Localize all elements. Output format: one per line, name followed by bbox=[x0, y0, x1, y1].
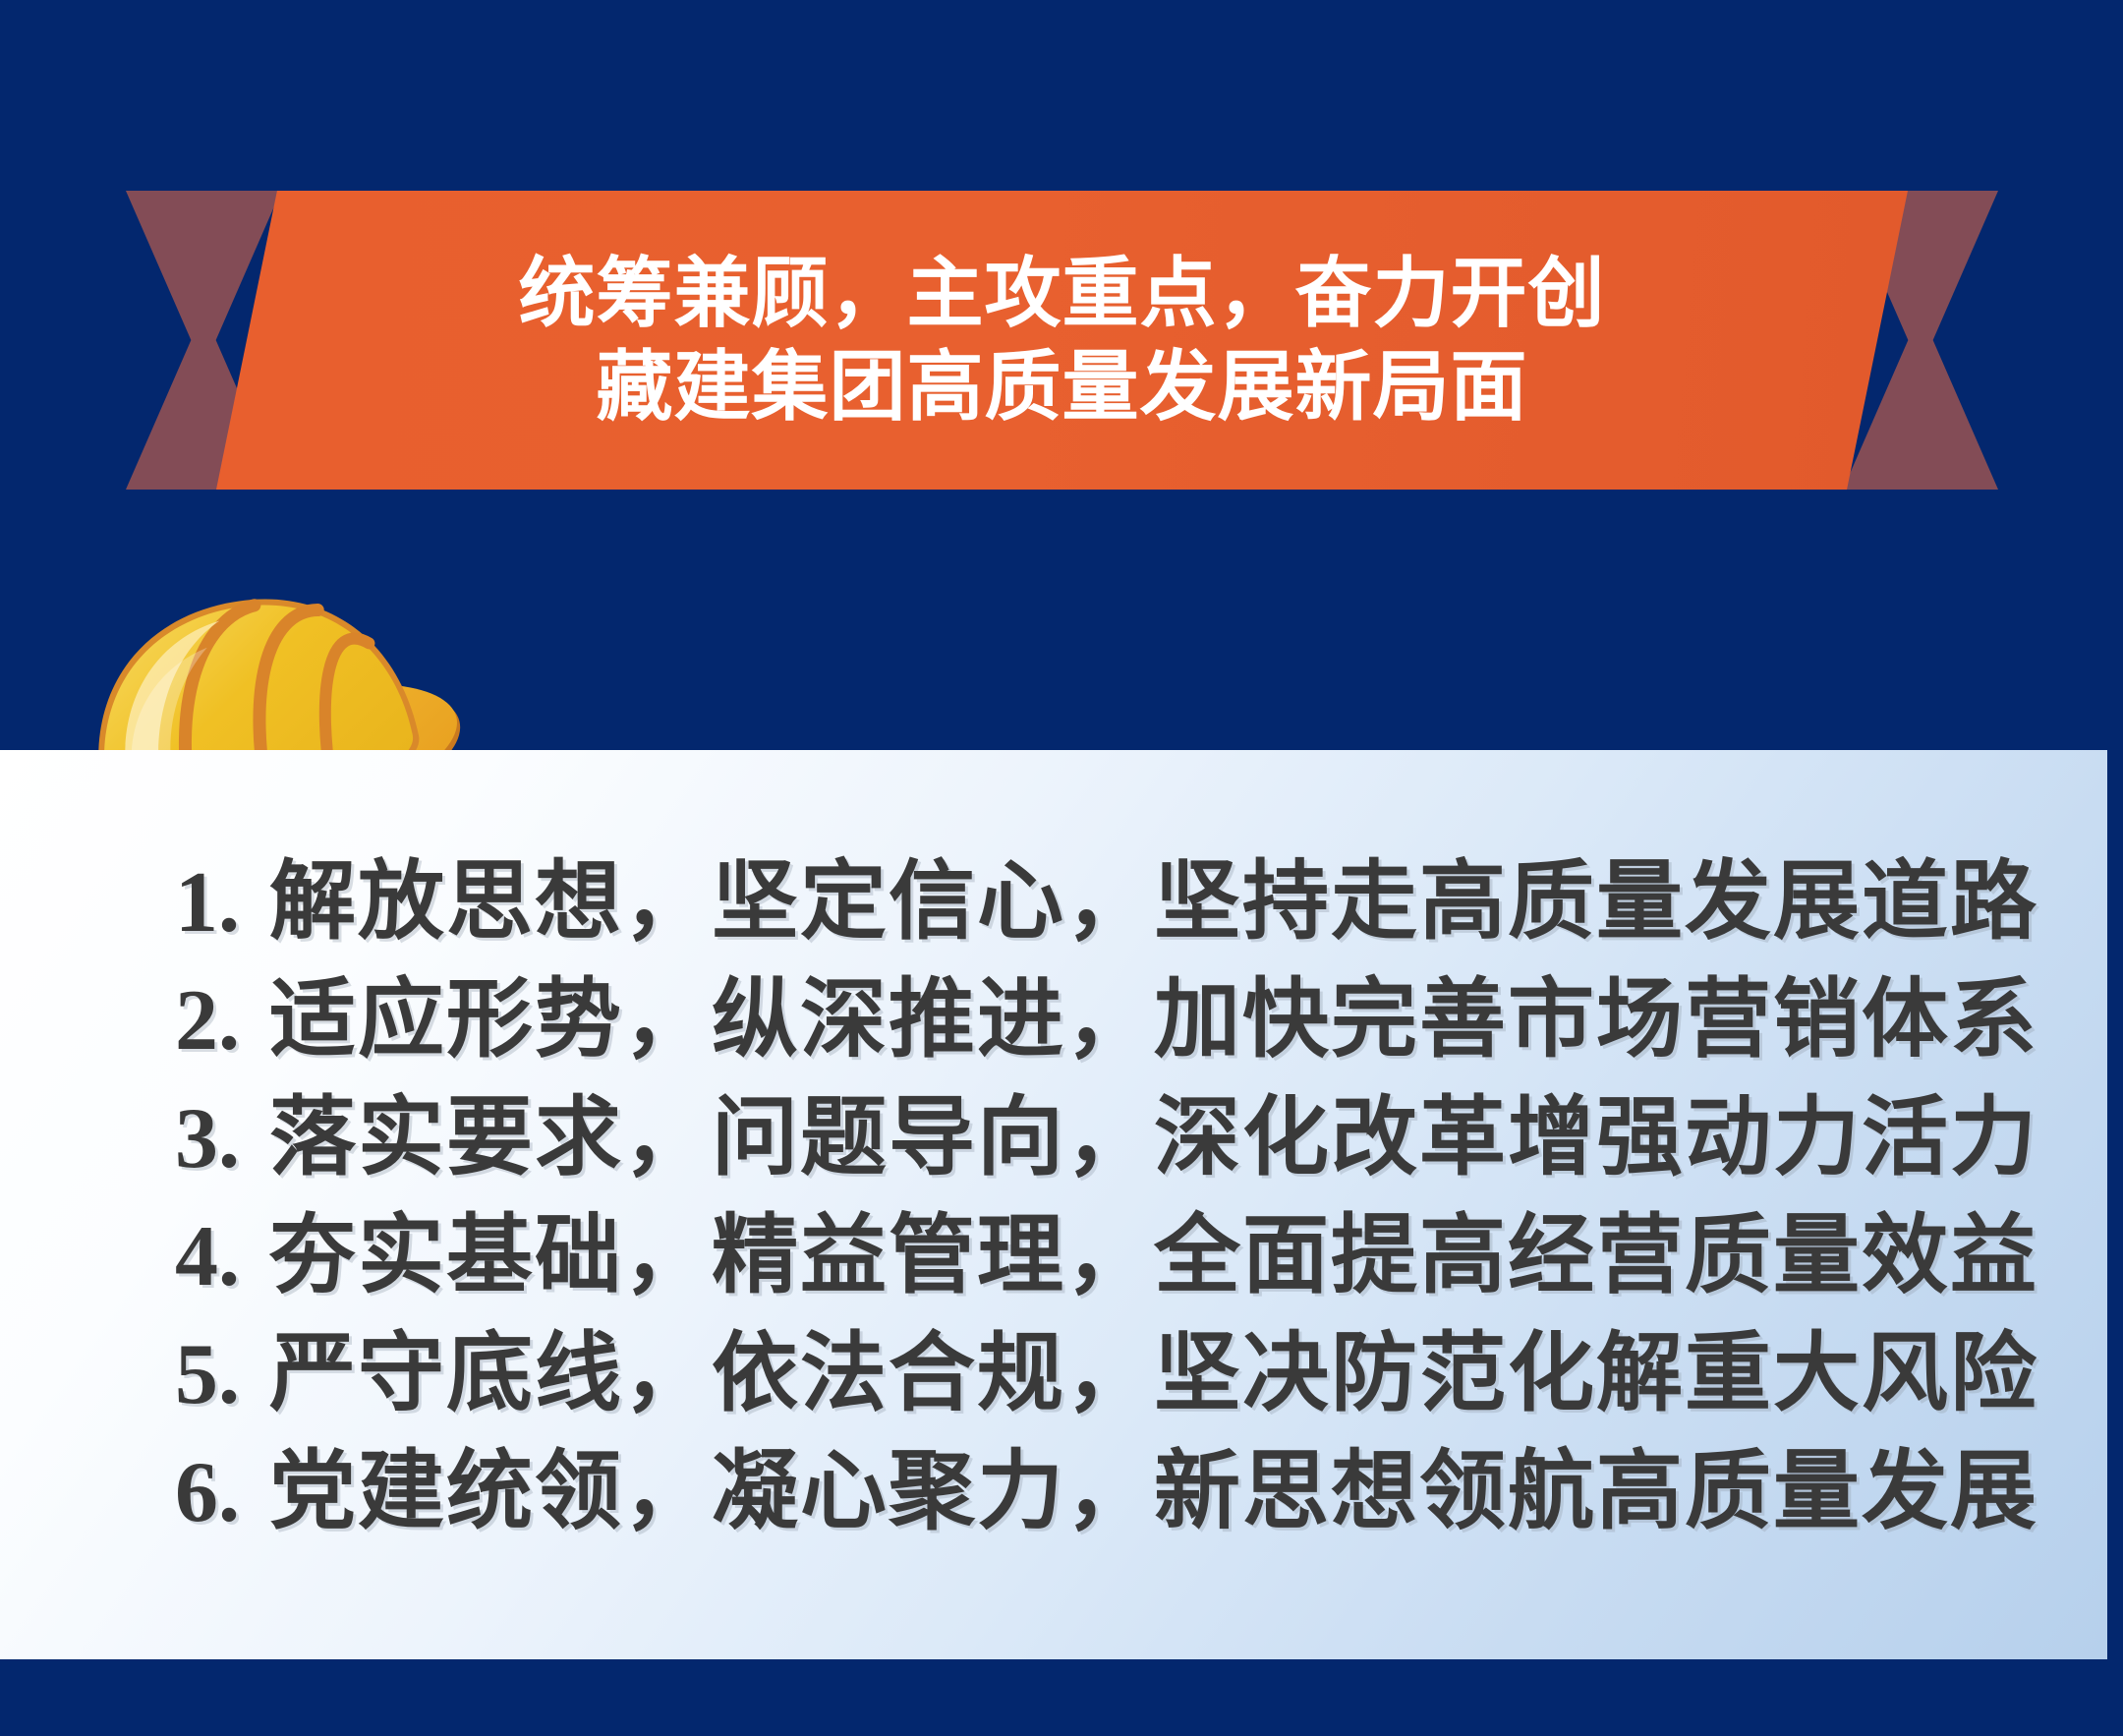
ribbon-body: 统筹兼顾，主攻重点，奋力开创 藏建集团高质量发展新局面 bbox=[216, 191, 1908, 490]
list-item-text: 解放思想，坚定信心，坚持走高质量发展道路 bbox=[269, 844, 2038, 962]
list-item-text: 严守底线，依法合规，坚决防范化解重大风险 bbox=[269, 1316, 2038, 1434]
list-item: 4. 夯实基础，精益管理，全面提高经营质量效益 bbox=[175, 1198, 2048, 1316]
list-item-text: 党建统领，凝心聚力，新思想领航高质量发展 bbox=[269, 1434, 2038, 1552]
list-item-text: 落实要求，问题导向，深化改革增强动力活力 bbox=[269, 1080, 2038, 1198]
list-item: 3. 落实要求，问题导向，深化改革增强动力活力 bbox=[175, 1080, 2048, 1198]
list-item-number: 1. bbox=[175, 844, 269, 962]
list-item-text: 适应形势，纵深推进，加快完善市场营销体系 bbox=[269, 962, 2038, 1080]
list-item-text: 夯实基础，精益管理，全面提高经营质量效益 bbox=[269, 1198, 2038, 1316]
bottom-blue-band bbox=[0, 1659, 2123, 1736]
goals-list: 1. 解放思想，坚定信心，坚持走高质量发展道路 2. 适应形势，纵深推进，加快完… bbox=[175, 844, 2048, 1552]
list-item: 2. 适应形势，纵深推进，加快完善市场营销体系 bbox=[175, 962, 2048, 1080]
list-item-number: 3. bbox=[175, 1080, 269, 1198]
content-panel: 1. 解放思想，坚定信心，坚持走高质量发展道路 2. 适应形势，纵深推进，加快完… bbox=[0, 750, 2115, 1659]
poster-root: 统筹兼顾，主攻重点，奋力开创 藏建集团高质量发展新局面 bbox=[0, 0, 2123, 1736]
banner-title-line-1: 统筹兼顾，主攻重点，奋力开创 bbox=[518, 247, 1605, 340]
list-item: 1. 解放思想，坚定信心，坚持走高质量发展道路 bbox=[175, 844, 2048, 962]
list-item: 5. 严守底线，依法合规，坚决防范化解重大风险 bbox=[175, 1316, 2048, 1434]
list-item-number: 2. bbox=[175, 962, 269, 1080]
title-ribbon: 统筹兼顾，主攻重点，奋力开创 藏建集团高质量发展新局面 bbox=[126, 191, 1998, 490]
list-item-number: 6. bbox=[175, 1434, 269, 1552]
banner-title-line-2: 藏建集团高质量发展新局面 bbox=[596, 340, 1527, 434]
list-item: 6. 党建统领，凝心聚力，新思想领航高质量发展 bbox=[175, 1434, 2048, 1552]
list-item-number: 4. bbox=[175, 1198, 269, 1316]
list-item-number: 5. bbox=[175, 1316, 269, 1434]
